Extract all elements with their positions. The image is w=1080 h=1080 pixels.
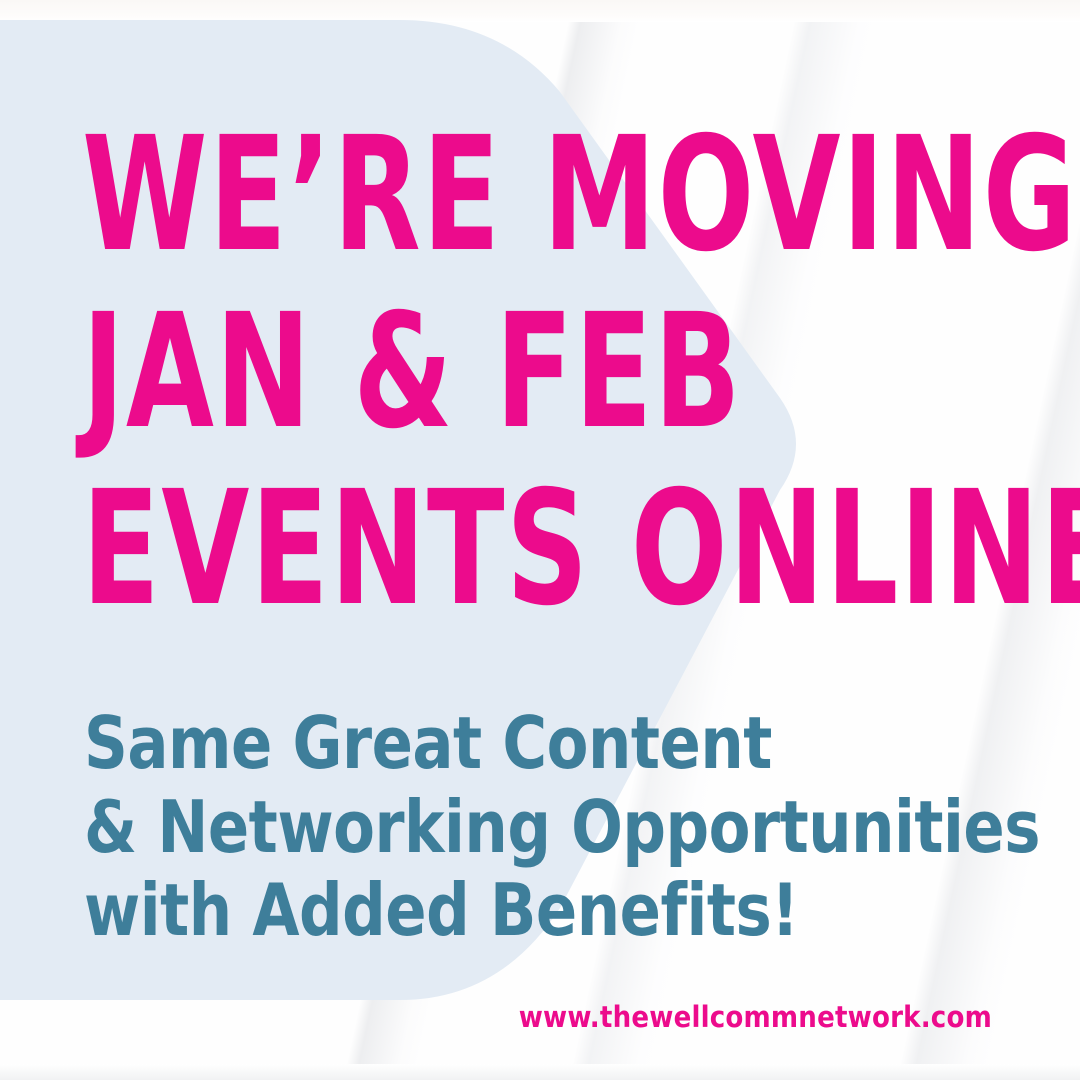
headline-line-2: JAN & FEB: [82, 295, 850, 450]
subheading-block: Same Great Content & Networking Opportun…: [84, 702, 1064, 953]
website-url[interactable]: www.thewellcommnetwork.com: [519, 1000, 992, 1034]
subheading-line-1: Same Great Content: [84, 702, 1005, 786]
headline-line-1: WE’RE MOVING: [82, 118, 850, 273]
poster-canvas: WE’RE MOVING JAN & FEB EVENTS ONLINE! Sa…: [0, 0, 1080, 1080]
subheading-line-3: with Added Benefits!: [84, 869, 1005, 953]
headline-block: WE’RE MOVING JAN & FEB EVENTS ONLINE!: [82, 118, 1042, 626]
headline-line-3: EVENTS ONLINE!: [82, 472, 850, 627]
poster-content: WE’RE MOVING JAN & FEB EVENTS ONLINE! Sa…: [0, 0, 1080, 1080]
subheading-line-2: & Networking Opportunities: [84, 786, 1005, 870]
